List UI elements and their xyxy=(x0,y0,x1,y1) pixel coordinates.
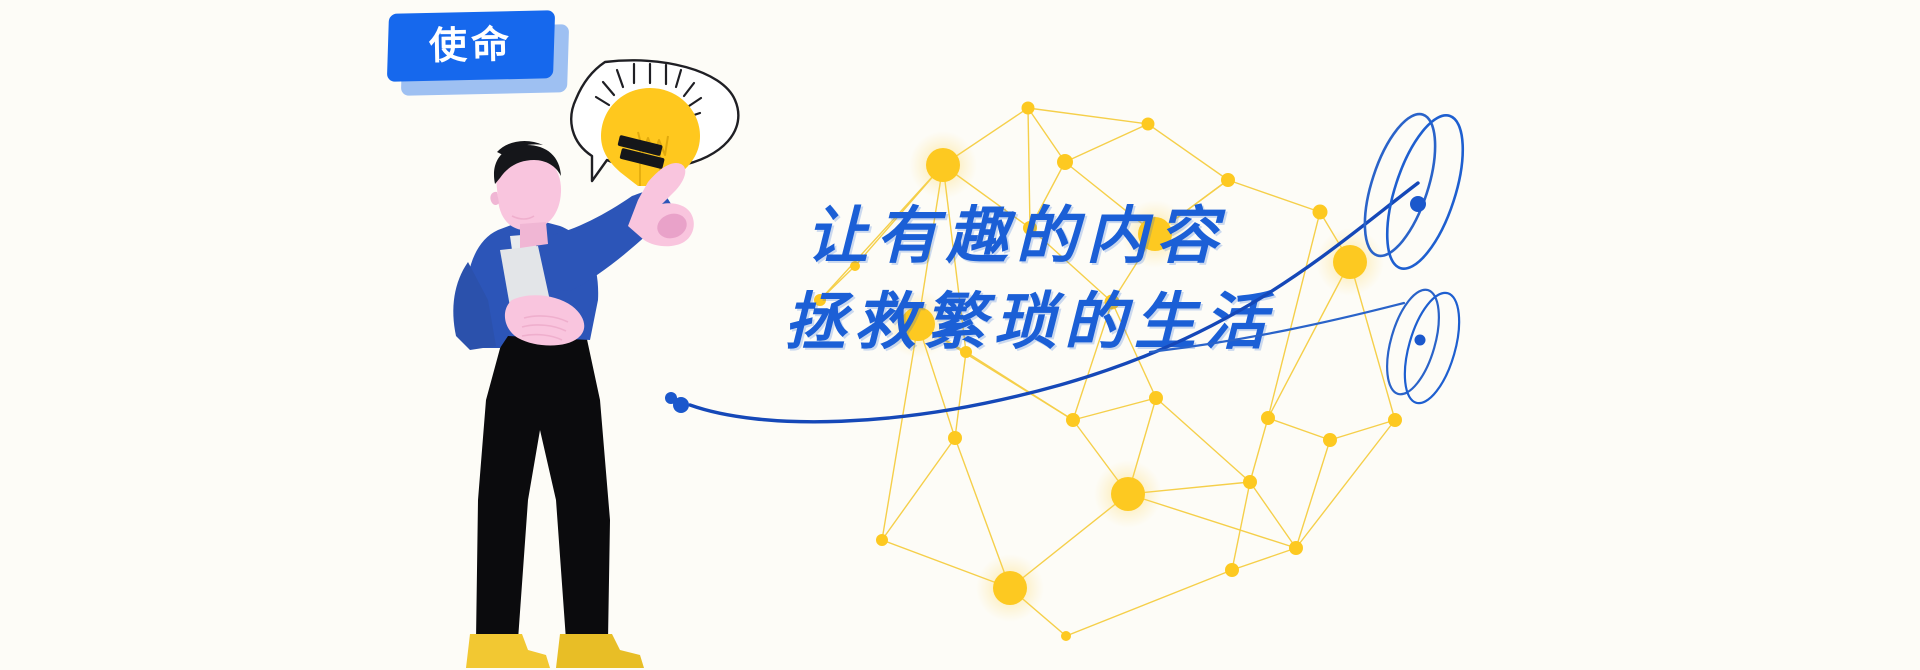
mission-banner: 让有趣的内容 拯救繁琐的生活 xyxy=(0,0,1920,670)
mission-badge-body: 使命 xyxy=(387,10,555,81)
character-neck xyxy=(520,222,548,248)
mission-badge: 使命 xyxy=(388,12,568,94)
character-shoes xyxy=(466,634,644,668)
character-illustration xyxy=(0,0,1920,670)
character-trousers xyxy=(476,330,610,640)
mission-badge-label: 使命 xyxy=(429,26,514,66)
character-head xyxy=(490,141,561,230)
